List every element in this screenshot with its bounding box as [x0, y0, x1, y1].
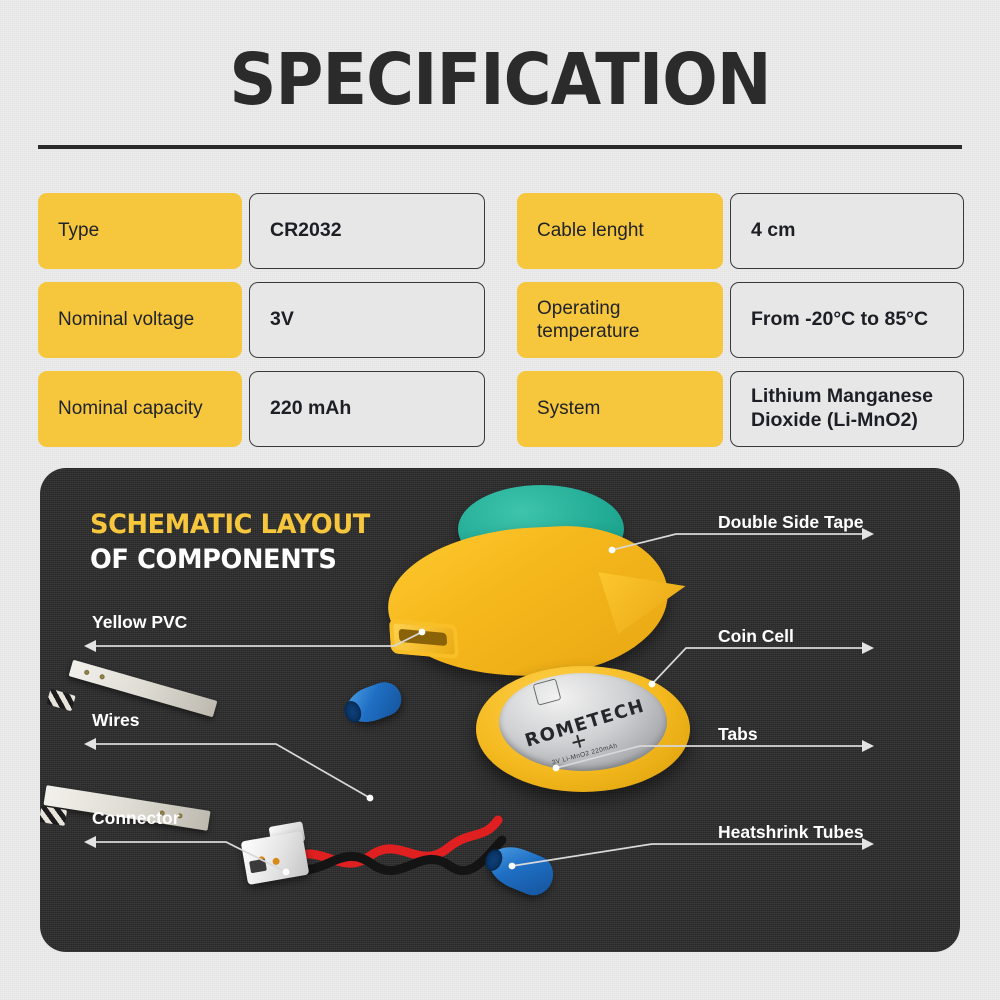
callout-tabs: Tabs	[718, 724, 758, 745]
spec-key: Nominal capacity	[38, 371, 242, 447]
callout-leader-lines	[40, 468, 960, 952]
spec-value: From -20°C to 85°C	[730, 282, 964, 358]
specification-sheet: SPECIFICATION Type CR2032 Cable lenght 4…	[0, 0, 1000, 1000]
callout-yellow-pvc: Yellow PVC	[92, 612, 187, 633]
spec-key: Cable lenght	[517, 193, 723, 269]
spec-row: Cable lenght 4 cm	[517, 193, 964, 269]
leader-coin-cell	[649, 642, 874, 687]
spec-row: System Lithium Manganese Dioxide (Li-MnO…	[517, 371, 964, 447]
callout-coin-cell: Coin Cell	[718, 626, 794, 647]
spec-key: Operating temperature	[517, 282, 723, 358]
spec-value: 4 cm	[730, 193, 964, 269]
spec-key: Type	[38, 193, 242, 269]
spec-row: Type CR2032	[38, 193, 485, 269]
spec-key: System	[517, 371, 723, 447]
spec-value: CR2032	[249, 193, 485, 269]
schematic-panel: SCHEMATIC LAYOUT OF COMPONENTS	[40, 468, 960, 952]
leader-connector	[84, 836, 289, 875]
spec-value: 220 mAh	[249, 371, 485, 447]
page-title: SPECIFICATION	[40, 44, 960, 115]
spec-row: Nominal capacity 220 mAh	[38, 371, 485, 447]
leader-tabs	[553, 740, 874, 771]
leader-wires	[84, 738, 373, 801]
callout-double-side-tape: Double Side Tape	[718, 512, 864, 533]
spec-value: Lithium Manganese Dioxide (Li-MnO2)	[730, 371, 964, 447]
spec-key: Nominal voltage	[38, 282, 242, 358]
spec-row: Operating temperature From -20°C to 85°C	[517, 282, 964, 358]
callout-connector: Connector	[92, 808, 180, 829]
callout-heatshrink-tubes: Heatshrink Tubes	[718, 822, 864, 843]
spec-row: Nominal voltage 3V	[38, 282, 485, 358]
callout-wires: Wires	[92, 710, 140, 731]
title-divider	[38, 145, 962, 149]
spec-value: 3V	[249, 282, 485, 358]
spec-table: Type CR2032 Cable lenght 4 cm Nominal vo…	[38, 193, 964, 447]
